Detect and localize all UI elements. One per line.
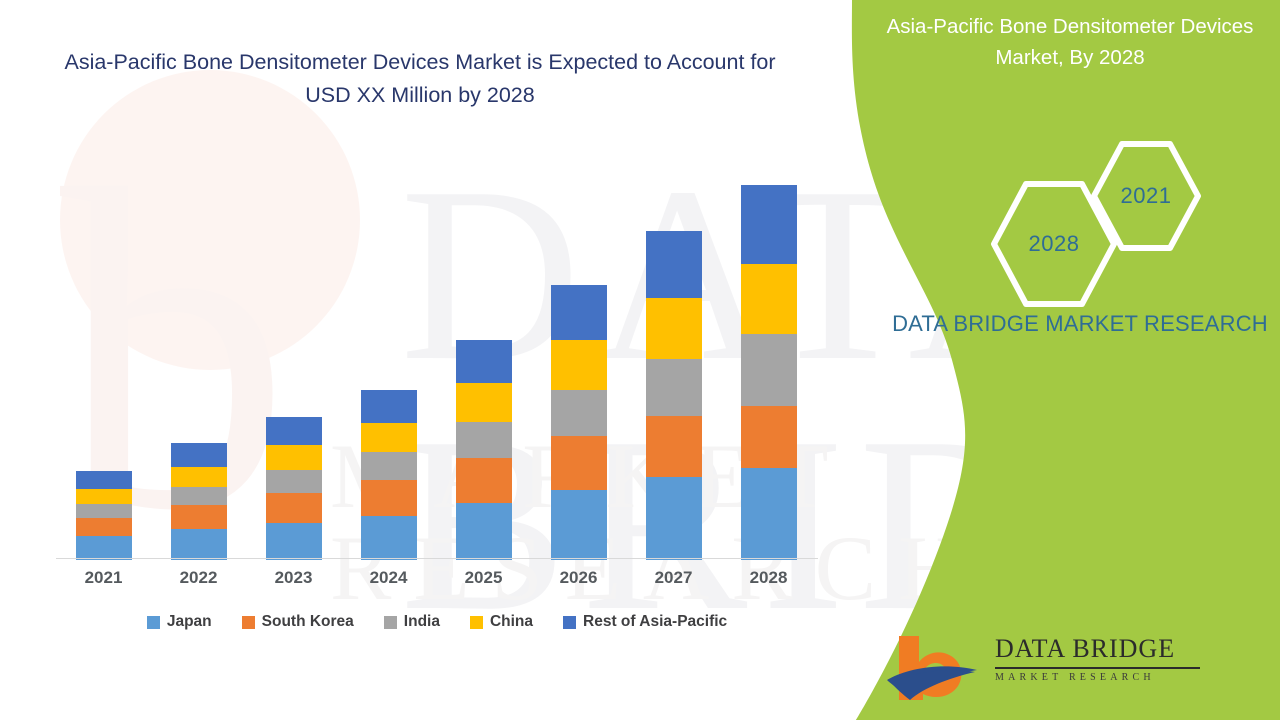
bar-segment-india-2024[interactable] [361,452,417,480]
bar-segment-rest-of-asia-pacific-2024[interactable] [361,390,417,423]
bar-segment-japan-2022[interactable] [171,529,227,560]
bar-segment-south-korea-2026[interactable] [551,436,607,490]
legend-label: Japan [167,613,212,631]
logo-divider [995,667,1200,669]
legend-swatch-icon [384,616,397,629]
x-tick-2028: 2028 [729,568,809,588]
bar-segment-south-korea-2024[interactable] [361,480,417,516]
bar-2027[interactable] [646,231,702,560]
legend-swatch-icon [147,616,160,629]
bar-segment-south-korea-2028[interactable] [741,406,797,468]
bar-segment-china-2022[interactable] [171,467,227,487]
brand-name-text: DATA BRIDGE MARKET RESEARCH [880,308,1280,340]
bar-segment-india-2026[interactable] [551,390,607,436]
bar-chart-plot-area [56,150,816,560]
bar-segment-india-2022[interactable] [171,487,227,505]
logo-wordmark: DATA BRIDGE MARKET RESEARCH [995,636,1235,683]
x-tick-2026: 2026 [539,568,619,588]
page-title: Asia-Pacific Bone Densitometer Devices M… [40,46,800,111]
bar-segment-rest-of-asia-pacific-2025[interactable] [456,340,512,383]
chart-legend: JapanSouth KoreaIndiaChinaRest of Asia-P… [56,613,818,631]
bar-segment-china-2024[interactable] [361,423,417,452]
bar-2021[interactable] [76,471,132,560]
x-tick-2022: 2022 [159,568,239,588]
x-axis-tick-labels: 20212022202320242025202620272028 [56,568,818,598]
legend-item-china[interactable]: China [470,613,533,631]
chart-pane: Asia-Pacific Bone Densitometer Devices M… [0,0,880,720]
bar-segment-india-2028[interactable] [741,334,797,406]
legend-item-india[interactable]: India [384,613,440,631]
bar-segment-india-2023[interactable] [266,470,322,493]
legend-label: China [490,613,533,631]
data-bridge-logo: DATA BRIDGE MARKET RESEARCH [885,628,1245,706]
x-tick-2025: 2025 [444,568,524,588]
bar-segment-india-2027[interactable] [646,359,702,416]
legend-label: India [404,613,440,631]
slide-canvas: b DATA BRIDGE MARKET RESEARCH Asia-Pacif… [0,0,1280,720]
bar-segment-rest-of-asia-pacific-2028[interactable] [741,185,797,264]
bar-segment-india-2025[interactable] [456,422,512,458]
bar-segment-china-2028[interactable] [741,264,797,334]
legend-label: South Korea [262,613,354,631]
logo-main-text: DATA BRIDGE [995,636,1235,662]
bar-segment-rest-of-asia-pacific-2021[interactable] [76,471,132,489]
bar-segment-japan-2028[interactable] [741,468,797,560]
data-bridge-b-logo-icon [885,628,995,706]
bar-2026[interactable] [551,285,607,560]
legend-swatch-icon [470,616,483,629]
legend-item-rest-of-asia-pacific[interactable]: Rest of Asia-Pacific [563,613,727,631]
bar-segment-china-2027[interactable] [646,298,702,359]
x-tick-2023: 2023 [254,568,334,588]
bar-segment-rest-of-asia-pacific-2022[interactable] [171,443,227,467]
bar-segment-china-2023[interactable] [266,445,322,470]
bar-segment-south-korea-2022[interactable] [171,505,227,529]
legend-swatch-icon [242,616,255,629]
legend-item-south-korea[interactable]: South Korea [242,613,354,631]
bar-segment-china-2021[interactable] [76,489,132,504]
x-axis-line [56,558,818,559]
legend-swatch-icon [563,616,576,629]
bar-segment-south-korea-2027[interactable] [646,416,702,477]
bar-2024[interactable] [361,390,417,560]
bar-2022[interactable] [171,443,227,560]
bar-2025[interactable] [456,340,512,560]
bar-segment-japan-2021[interactable] [76,536,132,560]
x-tick-2024: 2024 [349,568,429,588]
bar-segment-rest-of-asia-pacific-2023[interactable] [266,417,322,445]
legend-item-japan[interactable]: Japan [147,613,212,631]
logo-sub-text: MARKET RESEARCH [995,673,1235,683]
hexagon-2028-label: 2028 [988,178,1120,310]
bar-segment-japan-2024[interactable] [361,516,417,560]
green-panel-content: Asia-Pacific Bone Densitometer Devices M… [880,0,1280,720]
bar-segment-japan-2025[interactable] [456,503,512,560]
bar-segment-china-2025[interactable] [456,383,512,422]
bar-segment-rest-of-asia-pacific-2026[interactable] [551,285,607,340]
panel-title: Asia-Pacific Bone Densitometer Devices M… [870,12,1270,74]
x-tick-2021: 2021 [64,568,144,588]
bar-segment-south-korea-2021[interactable] [76,518,132,536]
bar-segment-japan-2026[interactable] [551,490,607,560]
bar-segment-japan-2023[interactable] [266,523,322,560]
bar-segment-china-2026[interactable] [551,340,607,390]
bar-2023[interactable] [266,417,322,560]
bar-segment-south-korea-2023[interactable] [266,493,322,523]
bar-segment-japan-2027[interactable] [646,477,702,560]
x-tick-2027: 2027 [634,568,714,588]
legend-label: Rest of Asia-Pacific [583,613,727,631]
bar-2028[interactable] [741,185,797,560]
bar-segment-india-2021[interactable] [76,504,132,518]
bar-segment-south-korea-2025[interactable] [456,458,512,503]
bar-segment-rest-of-asia-pacific-2027[interactable] [646,231,702,298]
